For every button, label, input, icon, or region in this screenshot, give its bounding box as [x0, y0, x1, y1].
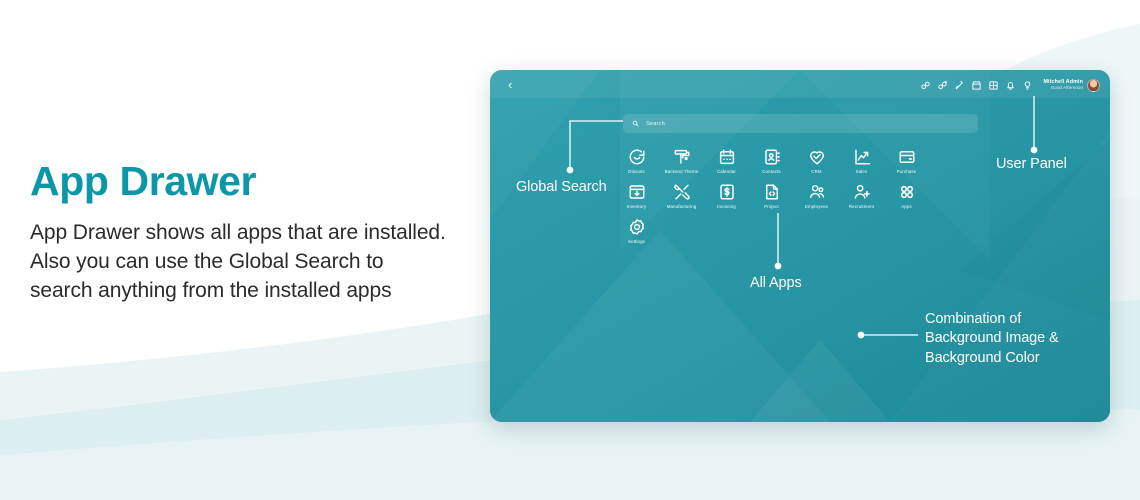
discuss-icon [628, 148, 646, 166]
app-label: Sales [856, 169, 868, 174]
app-settings[interactable]: Settings [614, 218, 659, 244]
annotation-user-panel: User Panel [996, 155, 1067, 174]
backend-theme-icon [673, 148, 691, 166]
annotation-background: Combination of Background Image & Backgr… [925, 310, 1059, 368]
app-label: CRM [811, 169, 821, 174]
search-input[interactable]: Search [623, 114, 978, 133]
sales-icon [853, 148, 871, 166]
app-recruitment[interactable]: Recruitment [839, 183, 884, 209]
apps-icon [898, 183, 916, 201]
annotation-global-search: Global Search [516, 178, 607, 197]
app-sales[interactable]: Sales [839, 148, 884, 174]
settings-icon [628, 218, 646, 236]
manufacturing-icon [673, 183, 691, 201]
app-employees[interactable]: Employees [794, 183, 839, 209]
annotation-all-apps: All Apps [750, 274, 802, 293]
invoicing-icon [718, 183, 736, 201]
apps-grid: Discuss Backend Theme Calendar Contacts … [614, 148, 974, 244]
project-icon [763, 183, 781, 201]
app-label: Contacts [762, 169, 781, 174]
avatar[interactable] [1087, 79, 1100, 92]
employees-icon [808, 183, 826, 201]
user-greeting: Good Afternoon [1043, 85, 1083, 90]
app-invoicing[interactable]: Invoicing [704, 183, 749, 209]
app-label: Discuss [628, 169, 644, 174]
app-discuss[interactable]: Discuss [614, 148, 659, 174]
activity-icon[interactable] [920, 80, 931, 91]
app-drawer-panel: ‹ Mitchell Admin Good Afternoon Search [490, 70, 1110, 422]
page-description: App Drawer shows all apps that are insta… [30, 219, 450, 305]
user-menu[interactable]: Mitchell Admin Good Afternoon [1043, 79, 1100, 92]
inventory-icon [628, 183, 646, 201]
app-apps[interactable]: Apps [884, 183, 929, 209]
user-texts: Mitchell Admin Good Afternoon [1043, 79, 1083, 90]
app-calendar[interactable]: Calendar [704, 148, 749, 174]
contacts-icon [763, 148, 781, 166]
app-crm[interactable]: CRM [794, 148, 839, 174]
slide-canvas: App Drawer App Drawer shows all apps tha… [0, 0, 1140, 500]
app-purchase[interactable]: Purchase [884, 148, 929, 174]
bug-icon[interactable] [954, 80, 965, 91]
app-label: Apps [901, 204, 912, 209]
page-title: App Drawer [30, 160, 450, 203]
app-label: Settings [628, 239, 645, 244]
purchase-icon [898, 148, 916, 166]
app-label: Project [764, 204, 779, 209]
crm-icon [808, 148, 826, 166]
recruitment-icon [853, 183, 871, 201]
app-label: Calendar [717, 169, 736, 174]
back-chevron-icon[interactable]: ‹ [508, 78, 512, 91]
app-label: Inventory [627, 204, 646, 209]
app-contacts[interactable]: Contacts [749, 148, 794, 174]
app-project[interactable]: Project [749, 183, 794, 209]
shop-icon[interactable] [971, 80, 982, 91]
app-label: Purchase [897, 169, 917, 174]
grid-icon[interactable] [988, 80, 999, 91]
user-panel[interactable]: Mitchell Admin Good Afternoon [920, 74, 1100, 96]
app-label: Employees [805, 204, 828, 209]
app-label: Invoicing [717, 204, 736, 209]
app-inventory[interactable]: Inventory [614, 183, 659, 209]
bell-icon[interactable] [1005, 80, 1016, 91]
messages-icon[interactable] [937, 80, 948, 91]
search-placeholder: Search [646, 121, 665, 127]
app-backend-theme[interactable]: Backend Theme [659, 148, 704, 174]
calendar-icon [718, 148, 736, 166]
left-copy-block: App Drawer App Drawer shows all apps tha… [30, 160, 450, 305]
app-label: Manufacturing [667, 204, 697, 209]
app-manufacturing[interactable]: Manufacturing [659, 183, 704, 209]
app-label: Backend Theme [665, 169, 699, 174]
lightbulb-icon[interactable] [1022, 80, 1033, 91]
app-label: Recruitment [849, 204, 874, 209]
search-icon [632, 120, 639, 127]
